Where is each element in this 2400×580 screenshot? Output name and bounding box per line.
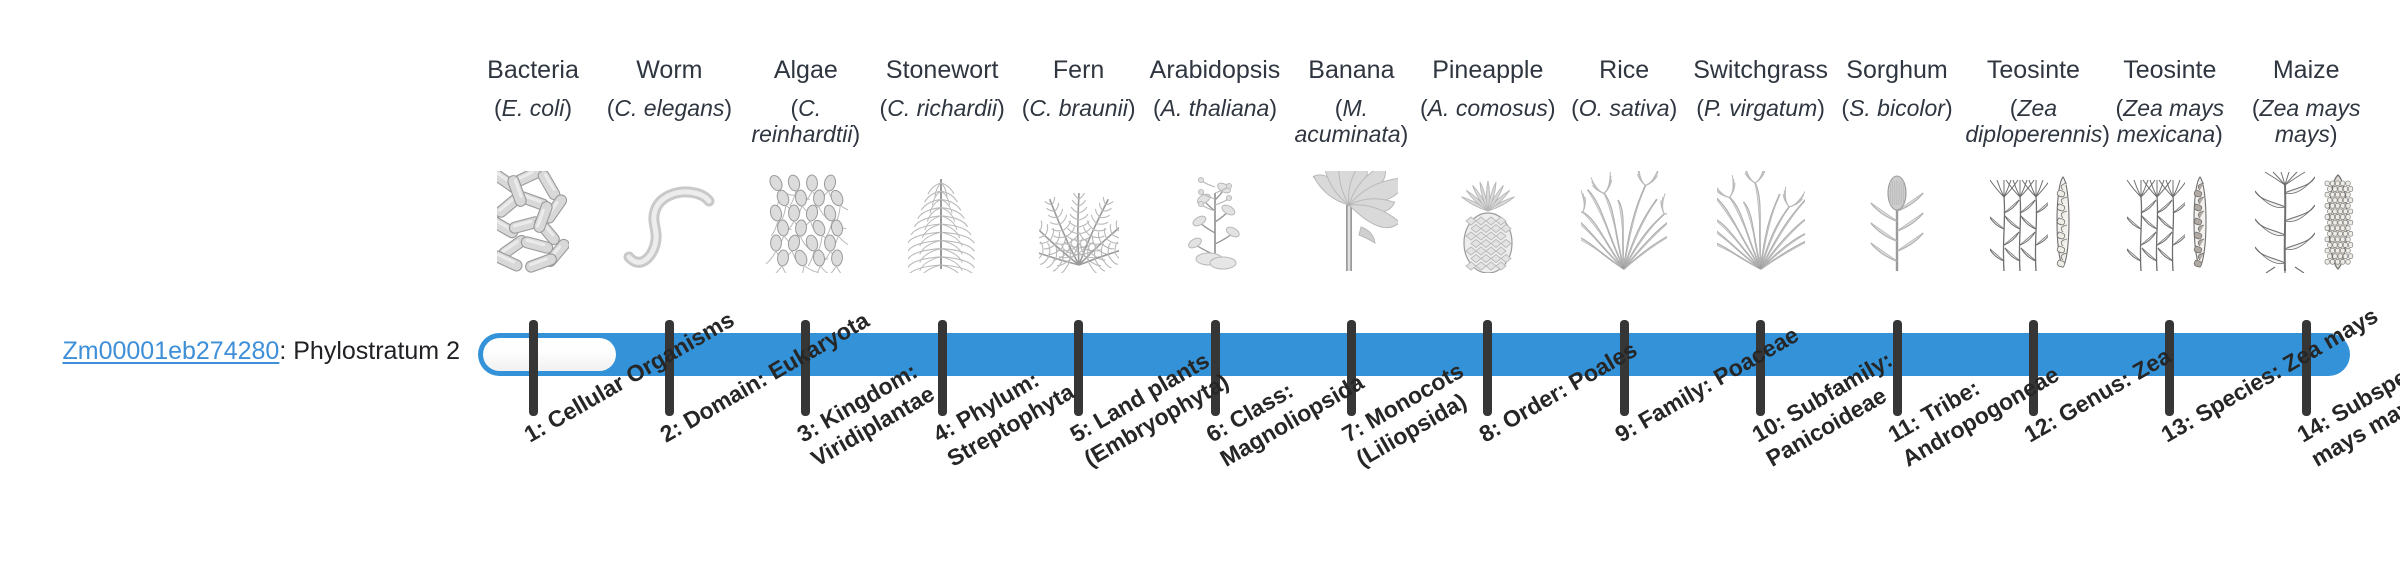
species-latin-name: (A. thaliana): [1147, 95, 1283, 121]
species-latin-name: (C. reinhardtii): [738, 95, 874, 147]
species-latin-text: C. elegans: [614, 95, 724, 121]
gene-label-separator: :: [279, 337, 293, 365]
species-column-switchgrass: Switchgrass(P. virgatum): [1693, 55, 1829, 121]
fern-illustration: [1011, 168, 1147, 273]
rice-illustration: [1556, 168, 1692, 273]
species-column-teosinte: Teosinte(Zea diploperennis): [1965, 55, 2101, 147]
species-column-sorghum: Sorghum(S. bicolor): [1829, 55, 1965, 121]
species-common-name: Rice: [1556, 55, 1692, 85]
teosinte-mexicana-illustration: [2102, 168, 2238, 273]
species-common-name: Worm: [601, 55, 737, 85]
species-latin-text: C. reinhardtii: [751, 95, 852, 147]
species-column-worm: Worm(C. elegans): [601, 55, 737, 121]
switchgrass-illustration: [1693, 168, 1829, 273]
species-latin-text: Zea mays mexicana: [2117, 95, 2224, 147]
species-latin-name: (C. braunii): [1011, 95, 1147, 121]
species-latin-name: (O. sativa): [1556, 95, 1692, 121]
gene-id-link[interactable]: Zm00001eb274280: [62, 337, 279, 365]
species-latin-text: Zea mays mays: [2260, 95, 2361, 147]
phylostratum-value: Phylostratum 2: [293, 337, 460, 365]
species-latin-text: Zea diploperennis: [1965, 95, 2102, 147]
species-latin-name: (M. acuminata): [1283, 95, 1419, 147]
stratum-number: 13:: [2156, 408, 2198, 447]
species-common-name: Teosinte: [1965, 55, 2101, 85]
sorghum-illustration: [1829, 168, 1965, 273]
species-latin-name: (C. richardii): [874, 95, 1010, 121]
species-column-arabidopsis: Arabidopsis(A. thaliana): [1147, 55, 1283, 121]
stratum-number: 8:: [1474, 415, 1505, 448]
species-common-name: Sorghum: [1829, 55, 1965, 85]
species-latin-text: M. acuminata: [1294, 95, 1400, 147]
species-common-name: Algae: [738, 55, 874, 85]
species-latin-text: S. bicolor: [1849, 95, 1945, 121]
species-latin-name: (E. coli): [465, 95, 601, 121]
species-latin-name: (Zea mays mexicana): [2102, 95, 2238, 147]
node-tick-1[interactable]: [529, 320, 538, 416]
species-latin-text: O. sativa: [1579, 95, 1670, 121]
species-common-name: Bacteria: [465, 55, 601, 85]
gene-phylostratum-label: Zm00001eb274280: Phylostratum 2: [0, 336, 460, 366]
arabidopsis-illustration: [1147, 168, 1283, 273]
species-latin-text: C. richardii: [887, 95, 997, 121]
stratum-number: 1:: [520, 415, 551, 448]
species-column-algae: Algae(C. reinhardtii): [738, 55, 874, 147]
worm-illustration: [601, 168, 737, 273]
species-common-name: Stonewort: [874, 55, 1010, 85]
species-column-banana: Banana(M. acuminata): [1283, 55, 1419, 147]
species-latin-name: (Zea diploperennis): [1965, 95, 2101, 147]
species-common-name: Banana: [1283, 55, 1419, 85]
phylostratum-timeline: Zm00001eb274280: Phylostratum 2 Bacteria…: [0, 0, 2400, 580]
species-latin-name: (C. elegans): [601, 95, 737, 121]
bacteria-illustration: [465, 168, 601, 273]
species-common-name: Fern: [1011, 55, 1147, 85]
teosinte-diploperennis-illustration: [1965, 168, 2101, 273]
species-common-name: Maize: [2238, 55, 2374, 85]
species-latin-name: (P. virgatum): [1693, 95, 1829, 121]
stonewort-illustration: [874, 168, 1010, 273]
species-latin-text: P. virgatum: [1704, 95, 1817, 121]
species-latin-name: (S. bicolor): [1829, 95, 1965, 121]
species-column-bacteria: Bacteria(E. coli): [465, 55, 601, 121]
algae-illustration: [738, 168, 874, 273]
species-column-fern: Fern(C. braunii): [1011, 55, 1147, 121]
pineapple-illustration: [1420, 168, 1556, 273]
species-latin-text: C. braunii: [1029, 95, 1127, 121]
species-common-name: Teosinte: [2102, 55, 2238, 85]
stratum-number: 2:: [656, 415, 687, 448]
maize-illustration: [2238, 168, 2374, 273]
species-latin-name: (Zea mays mays): [2238, 95, 2374, 147]
species-column-teosinte: Teosinte(Zea mays mexicana): [2102, 55, 2238, 147]
species-latin-name: (A. comosus): [1420, 95, 1556, 121]
species-column-stonewort: Stonewort(C. richardii): [874, 55, 1010, 121]
species-column-pineapple: Pineapple(A. comosus): [1420, 55, 1556, 121]
species-common-name: Switchgrass: [1693, 55, 1829, 85]
species-column-rice: Rice(O. sativa): [1556, 55, 1692, 121]
species-latin-text: A. comosus: [1428, 95, 1548, 121]
stratum-number: 9:: [1611, 415, 1642, 448]
stratum-number: 12:: [2020, 408, 2062, 447]
species-column-maize: Maize(Zea mays mays): [2238, 55, 2374, 147]
species-common-name: Arabidopsis: [1147, 55, 1283, 85]
species-common-name: Pineapple: [1420, 55, 1556, 85]
species-latin-text: A. thaliana: [1161, 95, 1270, 121]
species-latin-text: E. coli: [502, 95, 565, 121]
track-empty-region: [483, 338, 616, 371]
banana-illustration: [1283, 168, 1419, 273]
